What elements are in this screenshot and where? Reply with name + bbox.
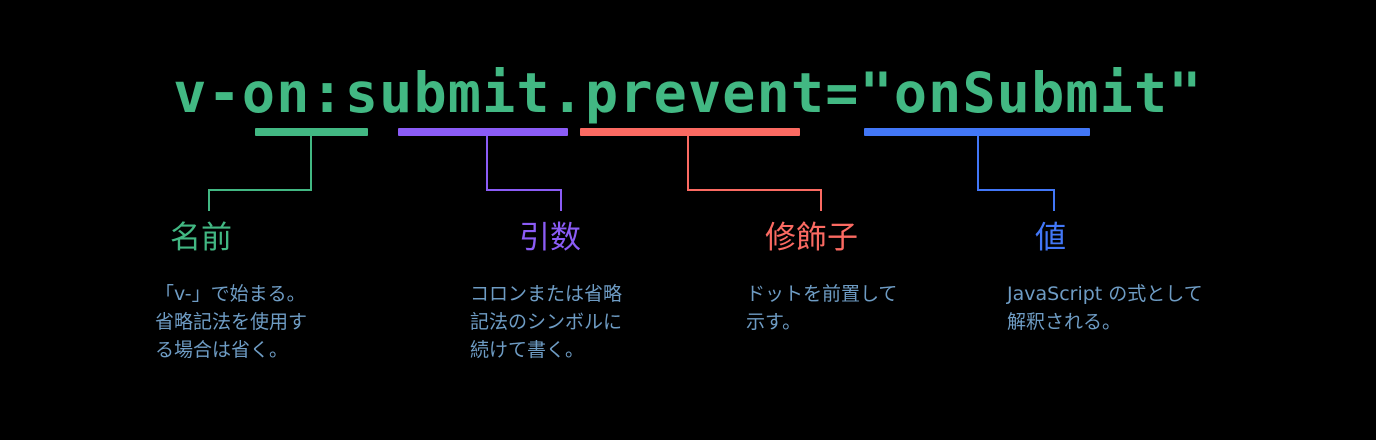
underline-bar-argument <box>398 128 568 136</box>
group-label-modifier: 修飾子 <box>765 221 858 255</box>
underline-bar-value <box>864 128 1090 136</box>
group-label-name: 名前 <box>170 221 232 255</box>
group-description-value: JavaScript の式として 解釈される。 <box>1007 280 1277 336</box>
directive-code-expression: v-on:submit.prevent="onSubmit" <box>0 62 1376 124</box>
underline-bar-name <box>255 128 368 136</box>
group-description-modifier: ドットを前置して 示す。 <box>746 280 946 336</box>
group-description-argument: コロンまたは省略 記法のシンボルに 続けて書く。 <box>470 280 685 364</box>
vue-directive-syntax-diagram: v-on:submit.prevent="onSubmit" 名前 「v-」で始… <box>0 0 1376 440</box>
group-label-value: 値 <box>1035 221 1066 255</box>
group-description-name: 「v-」で始まる。 省略記法を使用す る場合は省く。 <box>155 280 345 364</box>
underline-bar-modifier <box>580 128 800 136</box>
group-label-argument: 引数 <box>519 221 581 255</box>
